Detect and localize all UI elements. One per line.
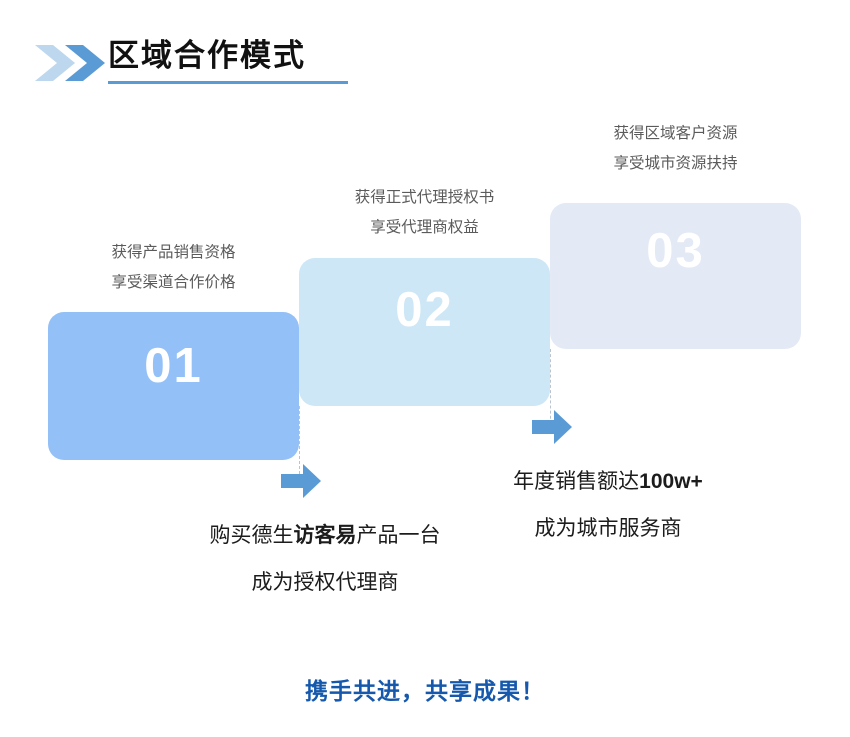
transition-note-1-prefix: 购买德生 [210,524,294,547]
card-band-layer: 集成商 代理商 城市服务商 [0,0,850,737]
step-card-3-role: 城市服务商 [0,0,145,39]
transition-note-2-highlight: 100w+ [639,470,703,493]
footer-slogan: 携手共进，共享成果！ [0,672,850,706]
transition-note-2-line-1: 年度销售额达100w+ [428,458,788,505]
transition-note-1-line-2: 成为授权代理商 [145,559,505,606]
step-card-3-band[interactable]: 城市服务商 [0,0,145,39]
transition-note-2: 年度销售额达100w+ 成为城市服务商 [428,458,788,552]
transition-note-2-line-2: 成为城市服务商 [428,505,788,552]
transition-note-2-prefix: 年度销售额达 [513,470,639,493]
arrow-right-icon-1 [281,464,321,498]
arrow-right-icon-2 [532,410,572,444]
slide-canvas: 区域合作模式 获得产品销售资格 享受渠道合作价格 获得正式代理授权书 享受代理商… [0,0,850,737]
transition-note-1-highlight: 访客易 [294,524,357,547]
